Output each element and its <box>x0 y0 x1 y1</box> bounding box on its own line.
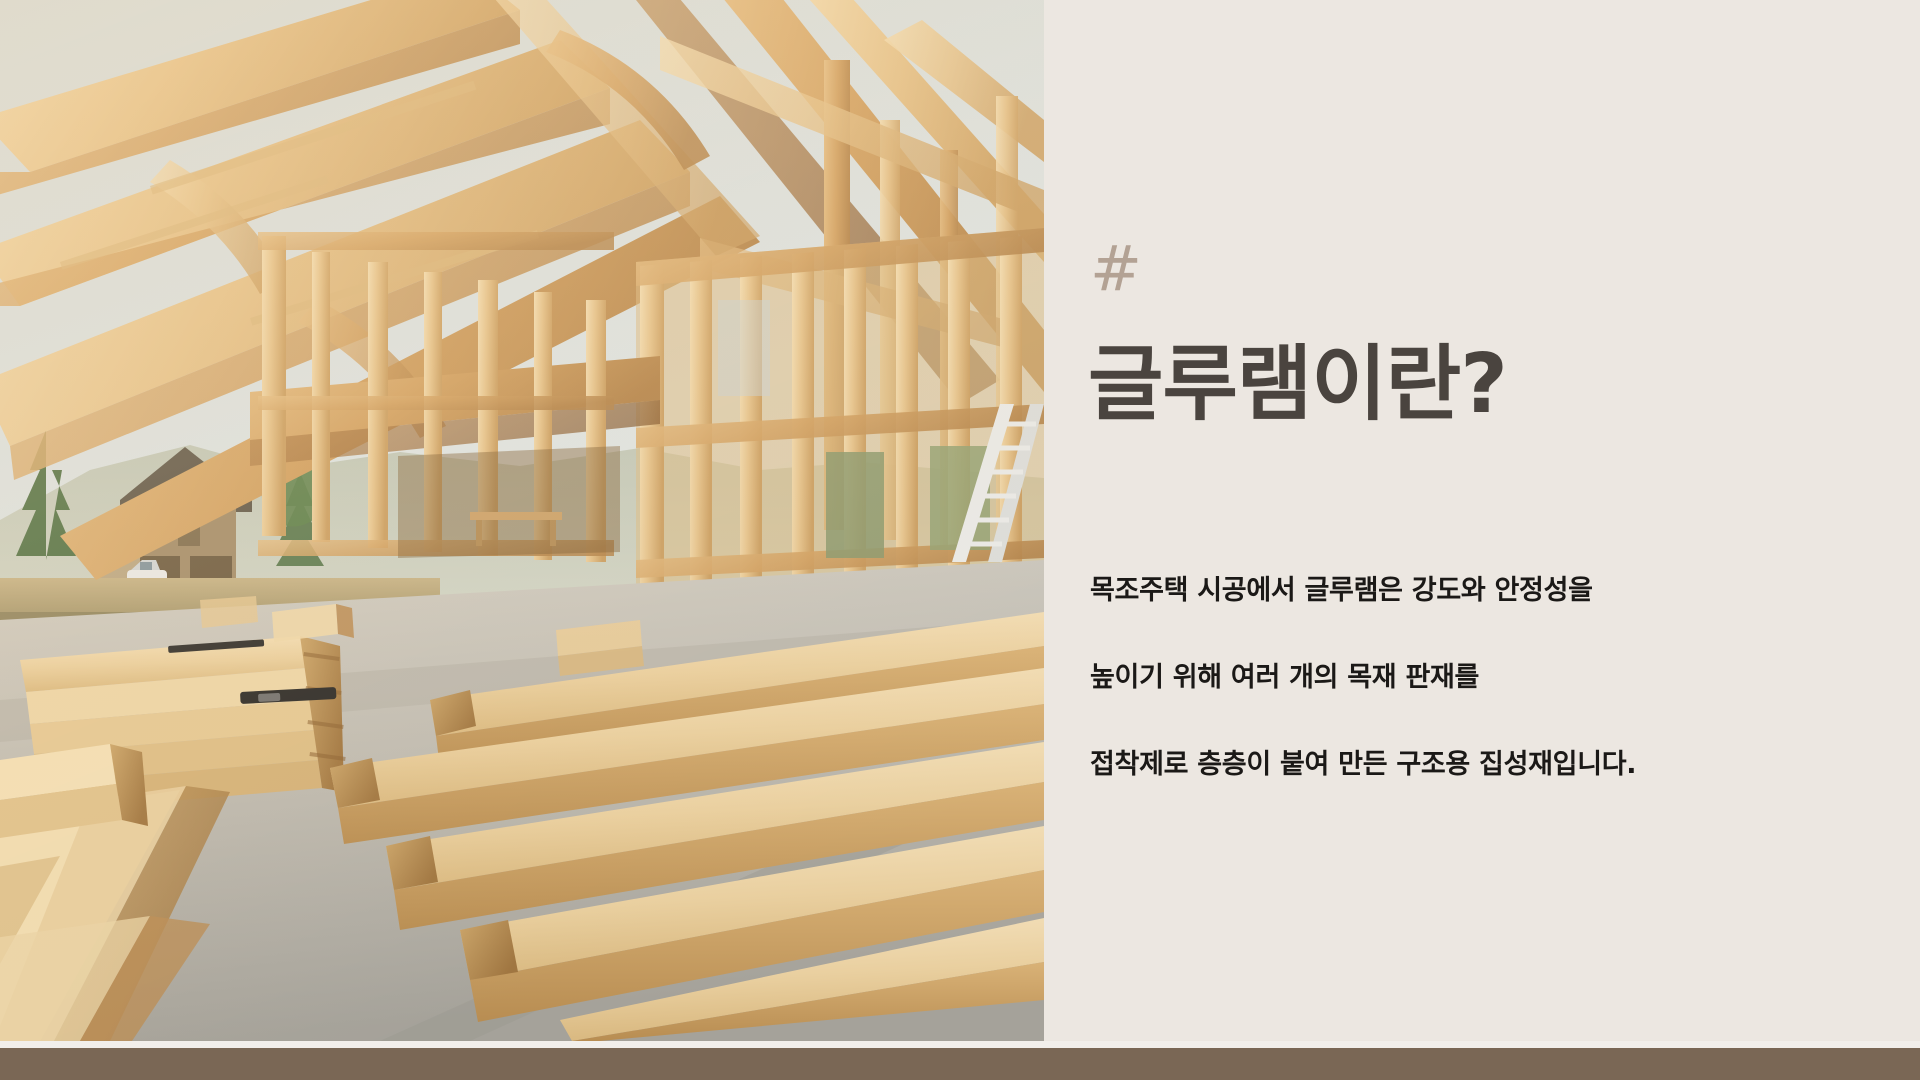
text-panel: # 글루램이란? 목조주택 시공에서 글루램은 강도와 안정성을 높이기 위해 … <box>1044 0 1920 1048</box>
slide-root: # 글루램이란? 목조주택 시공에서 글루램은 강도와 안정성을 높이기 위해 … <box>0 0 1920 1080</box>
description-block: 목조주택 시공에서 글루램은 강도와 안정성을 높이기 위해 여러 개의 목재 … <box>1090 575 1890 780</box>
description-line: 목조주택 시공에서 글루램은 강도와 안정성을 <box>1090 575 1890 606</box>
hero-photo <box>0 0 1044 1041</box>
description-line: 접착제로 층층이 붙여 만든 구조용 집성재입니다. <box>1090 749 1890 780</box>
bottom-gap-strip <box>0 1041 1920 1048</box>
description-line: 높이기 위해 여러 개의 목재 판재를 <box>1090 662 1890 693</box>
construction-site-illustration <box>0 0 1044 1041</box>
bottom-accent-bar <box>0 1048 1920 1080</box>
page-title: 글루램이란? <box>1088 340 1888 430</box>
hash-icon: # <box>1090 238 1142 300</box>
